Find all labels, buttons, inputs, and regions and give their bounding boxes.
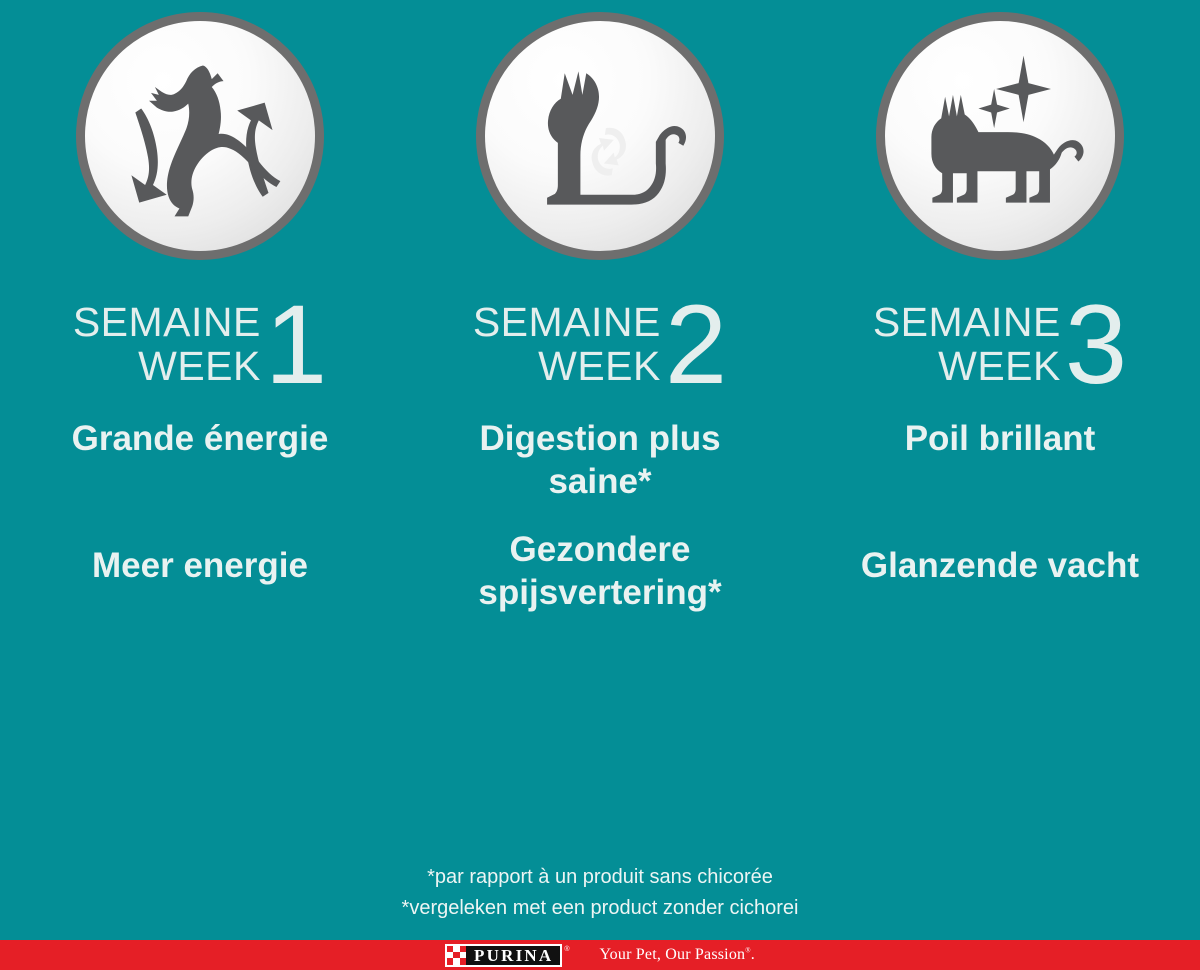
purina-wordmark: PURINA [466, 946, 560, 965]
purina-trademark-icon: ® [564, 946, 569, 953]
benefit-column-week-1: SEMAINE WEEK 1 Grande énergie Meer energ… [0, 0, 400, 850]
footnote-fr: *par rapport à un produit sans chicorée [0, 862, 1200, 893]
week-label-nl-3: WEEK [938, 346, 1061, 388]
purina-tagline: Your Pet, Our Passion®. [600, 946, 755, 964]
benefit-text-nl-1: Meer energie [92, 545, 308, 588]
badge-week-3 [876, 12, 1124, 260]
week-number-1: 1 [265, 298, 327, 392]
purina-logo-lockup: PURINA ® Your Pet, Our Passion®. [445, 944, 755, 967]
purina-brand-bar: PURINA ® Your Pet, Our Passion®. [0, 940, 1200, 970]
benefit-column-week-2: SEMAINE WEEK 2 Digestion plus saine* Gez… [400, 0, 800, 850]
benefit-column-week-3: SEMAINE WEEK 3 Poil brillant Glanzende v… [800, 0, 1200, 850]
footnotes: *par rapport à un produit sans chicorée … [0, 862, 1200, 924]
week-number-2: 2 [665, 298, 727, 392]
benefit-text-nl-3: Glanzende vacht [861, 545, 1139, 588]
checkerboard-icon [447, 946, 466, 965]
purina-logo: PURINA [445, 944, 562, 967]
standing-cat-shiny-coat-icon [902, 38, 1098, 234]
week-words-3: SEMAINE WEEK [873, 302, 1061, 388]
week-heading-1: SEMAINE WEEK 1 [73, 298, 327, 392]
footnote-nl: *vergeleken met een product zonder cicho… [0, 893, 1200, 924]
week-label-fr-2: SEMAINE [473, 302, 661, 344]
benefit-text-fr-3: Poil brillant [905, 418, 1096, 461]
week-label-fr-3: SEMAINE [873, 302, 1061, 344]
tagline-period: . [751, 946, 755, 963]
benefit-text-fr-1: Grande énergie [72, 418, 329, 461]
week-words-2: SEMAINE WEEK [473, 302, 661, 388]
week-label-fr-1: SEMAINE [73, 302, 261, 344]
week-words-1: SEMAINE WEEK [73, 302, 261, 388]
week-label-nl-1: WEEK [138, 346, 261, 388]
badge-week-1 [76, 12, 324, 260]
benefit-text-nl-2: Gezondere spijsvertering* [430, 529, 770, 614]
jumping-cat-energy-icon [102, 38, 298, 234]
week-label-nl-2: WEEK [538, 346, 661, 388]
promo-poster: SEMAINE WEEK 1 Grande énergie Meer energ… [0, 0, 1200, 970]
benefit-columns: SEMAINE WEEK 1 Grande énergie Meer energ… [0, 0, 1200, 850]
benefit-text-fr-2: Digestion plus saine* [430, 418, 770, 503]
badge-week-2 [476, 12, 724, 260]
tagline-text: Your Pet, Our Passion [600, 946, 746, 963]
sitting-cat-digestion-icon [502, 38, 698, 234]
week-heading-2: SEMAINE WEEK 2 [473, 298, 727, 392]
week-heading-3: SEMAINE WEEK 3 [873, 298, 1127, 392]
week-number-3: 3 [1065, 298, 1127, 392]
